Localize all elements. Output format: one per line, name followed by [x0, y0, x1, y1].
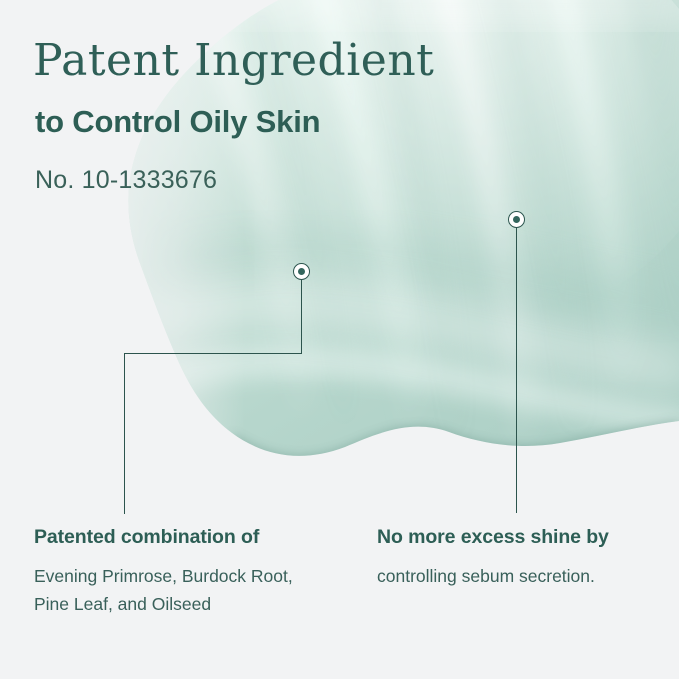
- left-leader-line-vertical-upper: [301, 279, 302, 354]
- product-info-graphic: Patent Ingredient to Control Oily Skin N…: [0, 0, 679, 679]
- page-subtitle: to Control Oily Skin: [35, 102, 513, 142]
- callout-left-body: Evening Primrose, Burdock Root, Pine Lea…: [34, 562, 334, 618]
- left-leader-line-vertical-lower: [124, 353, 125, 514]
- callout-right-body: controlling sebum secretion.: [377, 562, 677, 590]
- callout-left-body-line-1: Evening Primrose, Burdock Root,: [34, 562, 334, 590]
- patent-number: No. 10-1333676: [35, 164, 513, 196]
- right-callout-marker-icon: [508, 211, 525, 228]
- callout-left: Patented combination of Evening Primrose…: [34, 524, 334, 618]
- left-callout-marker-icon: [293, 263, 310, 280]
- callout-right-body-line-1: controlling sebum secretion.: [377, 562, 677, 590]
- left-leader-line-horizontal: [124, 353, 301, 354]
- callout-left-title: Patented combination of: [34, 524, 334, 550]
- headline-block: Patent Ingredient to Control Oily Skin N…: [33, 36, 513, 196]
- callout-left-body-line-2: Pine Leaf, and Oilseed: [34, 590, 334, 618]
- page-title: Patent Ingredient: [33, 36, 513, 86]
- callout-right-title: No more excess shine by: [377, 524, 677, 550]
- callout-right: No more excess shine by controlling sebu…: [377, 524, 677, 590]
- right-leader-line-vertical: [516, 227, 517, 513]
